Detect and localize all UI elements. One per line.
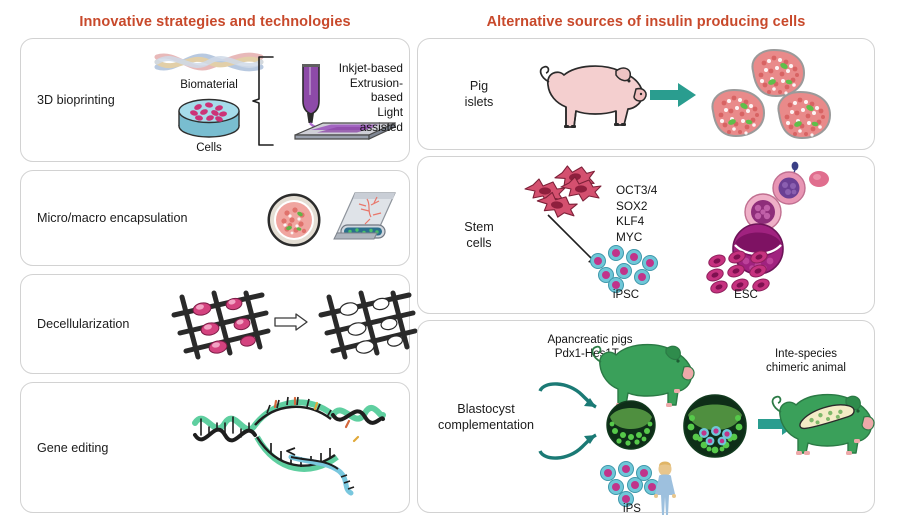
- curved-arrow-icon: [538, 383, 606, 417]
- islet-cluster-icon: [710, 49, 835, 144]
- caption-biomaterial: Biomaterial: [154, 79, 264, 91]
- complemented-blastocyst-icon: [682, 393, 748, 459]
- method-light: Light assisted: [337, 105, 403, 134]
- bioprinting-method-list: Inkjet-based Extrusion-based Light assis…: [337, 61, 403, 135]
- crispr-dna-icon: [191, 401, 386, 501]
- right-arrow-outline-icon: [274, 313, 308, 331]
- teal-arrow-icon: [650, 83, 696, 107]
- card-label-encapsulation: Micro/macro encapsulation: [37, 210, 188, 226]
- card-label-line-2: cells: [442, 235, 516, 251]
- method-extrusion: Extrusion-based: [337, 76, 403, 105]
- right-column-title: Alternative sources of insulin producing…: [417, 14, 875, 30]
- card-label-line-1: Stem: [442, 219, 516, 235]
- caption-ipsc: iPSC: [590, 289, 662, 301]
- ipsc-colony-icon: [590, 245, 662, 287]
- card-gene-editing[interactable]: Gene editing: [20, 382, 410, 513]
- card-label-blastocyst-complementation: Blastocyst complementation: [428, 400, 544, 432]
- fibroblast-cells-icon: [523, 165, 615, 217]
- card-blastocyst-complementation[interactable]: Blastocyst complementation Apancreatic p…: [417, 320, 875, 513]
- card-stem-cells[interactable]: Stem cells: [417, 156, 875, 314]
- card-label-decellularization: Decellularization: [37, 316, 129, 332]
- card-decellularization[interactable]: Decellularization: [20, 274, 410, 374]
- pig-icon: [532, 55, 652, 137]
- human-figure-icon: [651, 461, 679, 517]
- card-label-stem-cells: Stem cells: [442, 219, 516, 251]
- card-label-line-2: islets: [442, 94, 516, 110]
- card-label-3d-bioprinting: 3D bioprinting: [37, 92, 115, 108]
- card-label-line-2: complementation: [428, 417, 544, 433]
- caption-esc: ESC: [706, 289, 786, 301]
- chimeric-animal-annotation: Inte-species chimeric animal: [736, 347, 876, 376]
- card-3d-bioprinting[interactable]: 3D bioprinting Biomaterial: [20, 38, 410, 162]
- bracket-icon: [251, 55, 277, 147]
- figure-root: Innovative strategies and technologies A…: [0, 0, 899, 531]
- factor-oct34: OCT3/4: [616, 183, 657, 199]
- card-pig-islets[interactable]: Pig islets: [417, 38, 875, 150]
- decellularized-scaffold-icon: [313, 291, 418, 363]
- card-label-line-1: Blastocyst: [428, 400, 544, 416]
- macrodevice-icon: [333, 189, 399, 249]
- factor-klf4: KLF4: [616, 214, 657, 230]
- factor-myc: MYC: [616, 230, 657, 246]
- annotation-line-2: chimeric animal: [736, 361, 876, 375]
- transcription-factor-list: OCT3/4 SOX2 KLF4 MYC: [616, 183, 657, 245]
- chimeric-pig-icon: [766, 383, 874, 461]
- blastocyst-green-icon: [605, 399, 657, 451]
- method-inkjet: Inkjet-based: [337, 61, 403, 76]
- caption-cells: Cells: [176, 142, 242, 154]
- factor-sox2: SOX2: [616, 199, 657, 215]
- card-label-gene-editing: Gene editing: [37, 439, 108, 455]
- cellularized-scaffold-icon: [166, 291, 271, 363]
- card-label-line-1: Pig: [442, 78, 516, 94]
- card-encapsulation[interactable]: Micro/macro encapsulation: [20, 170, 410, 266]
- microcapsule-icon: [267, 193, 321, 247]
- annotation-line-1: Inte-species: [736, 347, 876, 361]
- curved-arrow-icon: [538, 425, 606, 459]
- left-column-title: Innovative strategies and technologies: [20, 14, 410, 30]
- cell-culture-dish-icon: [176, 96, 242, 140]
- card-label-pig-islets: Pig islets: [442, 78, 516, 110]
- braided-fibers-icon: [154, 48, 264, 78]
